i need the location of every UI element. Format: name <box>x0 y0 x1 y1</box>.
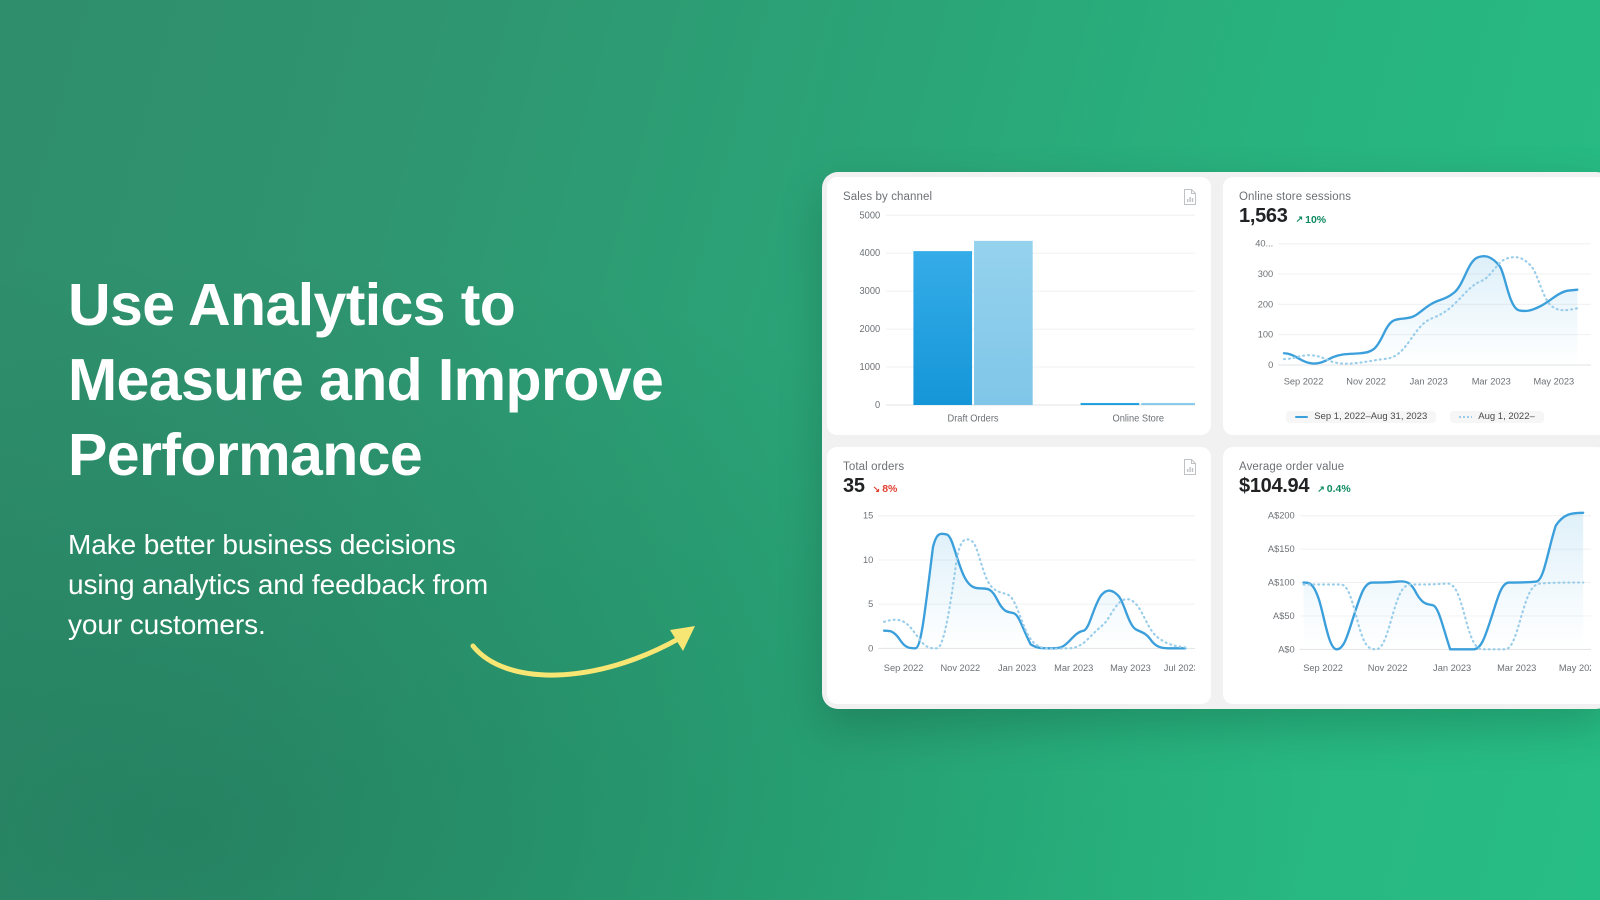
chart-average-order-value: A$200 A$150 A$100 A$50 A$0 Sep 2022 Nov … <box>1239 502 1591 695</box>
legend-dotted-line-icon <box>1459 416 1472 418</box>
card-title-online-store-sessions: Online store sessions <box>1239 191 1591 203</box>
svg-text:3000: 3000 <box>859 286 880 297</box>
svg-text:Nov 2022: Nov 2022 <box>940 662 980 672</box>
chart-total-orders: 15 10 5 0 Sep 2022 Nov 2022 Jan 2023 Mar… <box>843 502 1195 695</box>
legend-solid-line-icon <box>1295 416 1308 418</box>
svg-text:May 2023: May 2023 <box>1533 377 1574 387</box>
svg-text:0: 0 <box>868 643 873 653</box>
sessions-delta-text: 10% <box>1305 214 1326 226</box>
svg-text:1000: 1000 <box>859 362 880 373</box>
svg-text:A$50: A$50 <box>1273 610 1295 620</box>
metric-value-online-store-sessions: 1,563 <box>1239 205 1288 228</box>
svg-text:Online Store: Online Store <box>1112 413 1164 424</box>
svg-text:Mar 2023: Mar 2023 <box>1472 377 1511 387</box>
svg-text:200: 200 <box>1258 299 1273 309</box>
aov-delta-text: 0.4% <box>1327 483 1351 495</box>
orders-delta-text: 8% <box>882 483 897 495</box>
svg-text:A$200: A$200 <box>1268 510 1295 520</box>
svg-text:May 2023: May 2023 <box>1110 662 1151 672</box>
chart-legend-sessions: Sep 1, 2022–Aug 31, 2023 Aug 1, 2022– <box>1239 411 1591 425</box>
svg-text:A$0: A$0 <box>1278 644 1295 654</box>
svg-text:A$150: A$150 <box>1268 544 1295 554</box>
card-title-average-order-value: Average order value <box>1239 461 1591 473</box>
report-export-icon[interactable] <box>1183 459 1197 475</box>
svg-text:Sep 2022: Sep 2022 <box>1284 377 1324 387</box>
svg-text:A$100: A$100 <box>1268 577 1295 587</box>
svg-text:5000: 5000 <box>859 210 880 221</box>
chart-online-store-sessions: 40... 300 200 100 0 Sep 2022 Nov 2022 Ja… <box>1239 232 1591 408</box>
card-title-total-orders: Total orders <box>843 461 1195 473</box>
metric-row-total-orders: 35 ↘ 8% <box>843 475 1195 498</box>
svg-text:Mar 2023: Mar 2023 <box>1497 662 1536 672</box>
svg-text:100: 100 <box>1258 330 1273 340</box>
legend-item-compare[interactable]: Aug 1, 2022– <box>1450 411 1544 423</box>
svg-text:Sep 2022: Sep 2022 <box>1303 662 1343 672</box>
arrow-up-icon: ↗ <box>1296 215 1304 224</box>
svg-text:Nov 2022: Nov 2022 <box>1368 662 1408 672</box>
arrow-up-icon: ↗ <box>1317 485 1325 494</box>
chart-sales-by-channel: 5000 4000 3000 2000 1000 0 <box>843 207 1195 425</box>
svg-text:5: 5 <box>868 599 873 609</box>
metric-row-online-store-sessions: 1,563 ↗ 10% <box>1239 205 1591 228</box>
svg-text:Mar 2023: Mar 2023 <box>1054 662 1093 672</box>
svg-text:0: 0 <box>1268 360 1273 370</box>
svg-text:Draft Orders: Draft Orders <box>948 413 999 424</box>
metric-row-average-order-value: $104.94 ↗ 0.4% <box>1239 475 1591 498</box>
svg-text:2000: 2000 <box>859 324 880 335</box>
legend-label-compare: Aug 1, 2022– <box>1478 411 1535 422</box>
svg-text:10: 10 <box>863 554 873 564</box>
svg-text:Jul 2023: Jul 2023 <box>1164 662 1195 672</box>
card-average-order-value[interactable]: Average order value $104.94 ↗ 0.4% <box>1223 447 1600 705</box>
svg-text:0: 0 <box>875 400 880 411</box>
svg-text:Jan 2023: Jan 2023 <box>998 662 1036 672</box>
arrow-down-icon: ↘ <box>873 485 881 494</box>
svg-text:Jan 2023: Jan 2023 <box>1410 377 1448 387</box>
card-title-sales-by-channel: Sales by channel <box>843 191 1195 203</box>
legend-item-current[interactable]: Sep 1, 2022–Aug 31, 2023 <box>1286 411 1436 423</box>
page-title: Use Analytics to Measure and Improve Per… <box>68 268 768 493</box>
svg-text:300: 300 <box>1258 269 1273 279</box>
report-export-icon[interactable] <box>1183 189 1197 205</box>
metric-value-average-order-value: $104.94 <box>1239 475 1309 498</box>
svg-text:15: 15 <box>863 510 873 520</box>
status-badge-sessions-delta: ↗ 10% <box>1296 214 1327 226</box>
svg-text:4000: 4000 <box>859 248 880 259</box>
card-online-store-sessions[interactable]: Online store sessions 1,563 ↗ 10% <box>1223 177 1600 435</box>
status-badge-orders-delta: ↘ 8% <box>873 483 898 495</box>
analytics-dashboard-panel: Sales by channel 5000 400 <box>822 172 1600 709</box>
svg-text:Sep 2022: Sep 2022 <box>884 662 924 672</box>
svg-text:40...: 40... <box>1255 239 1273 249</box>
svg-text:May 2023: May 2023 <box>1559 662 1591 672</box>
status-badge-aov-delta: ↗ 0.4% <box>1317 483 1350 495</box>
legend-label-current: Sep 1, 2022–Aug 31, 2023 <box>1314 411 1427 422</box>
svg-text:Nov 2022: Nov 2022 <box>1346 377 1386 387</box>
metric-value-total-orders: 35 <box>843 475 865 498</box>
page-subtitle: Make better business decisions using ana… <box>68 525 768 645</box>
svg-text:Jan 2023: Jan 2023 <box>1433 662 1471 672</box>
card-sales-by-channel[interactable]: Sales by channel 5000 400 <box>827 177 1211 435</box>
card-total-orders[interactable]: Total orders 35 ↘ 8% <box>827 447 1211 705</box>
hero-copy: Use Analytics to Measure and Improve Per… <box>68 268 768 645</box>
